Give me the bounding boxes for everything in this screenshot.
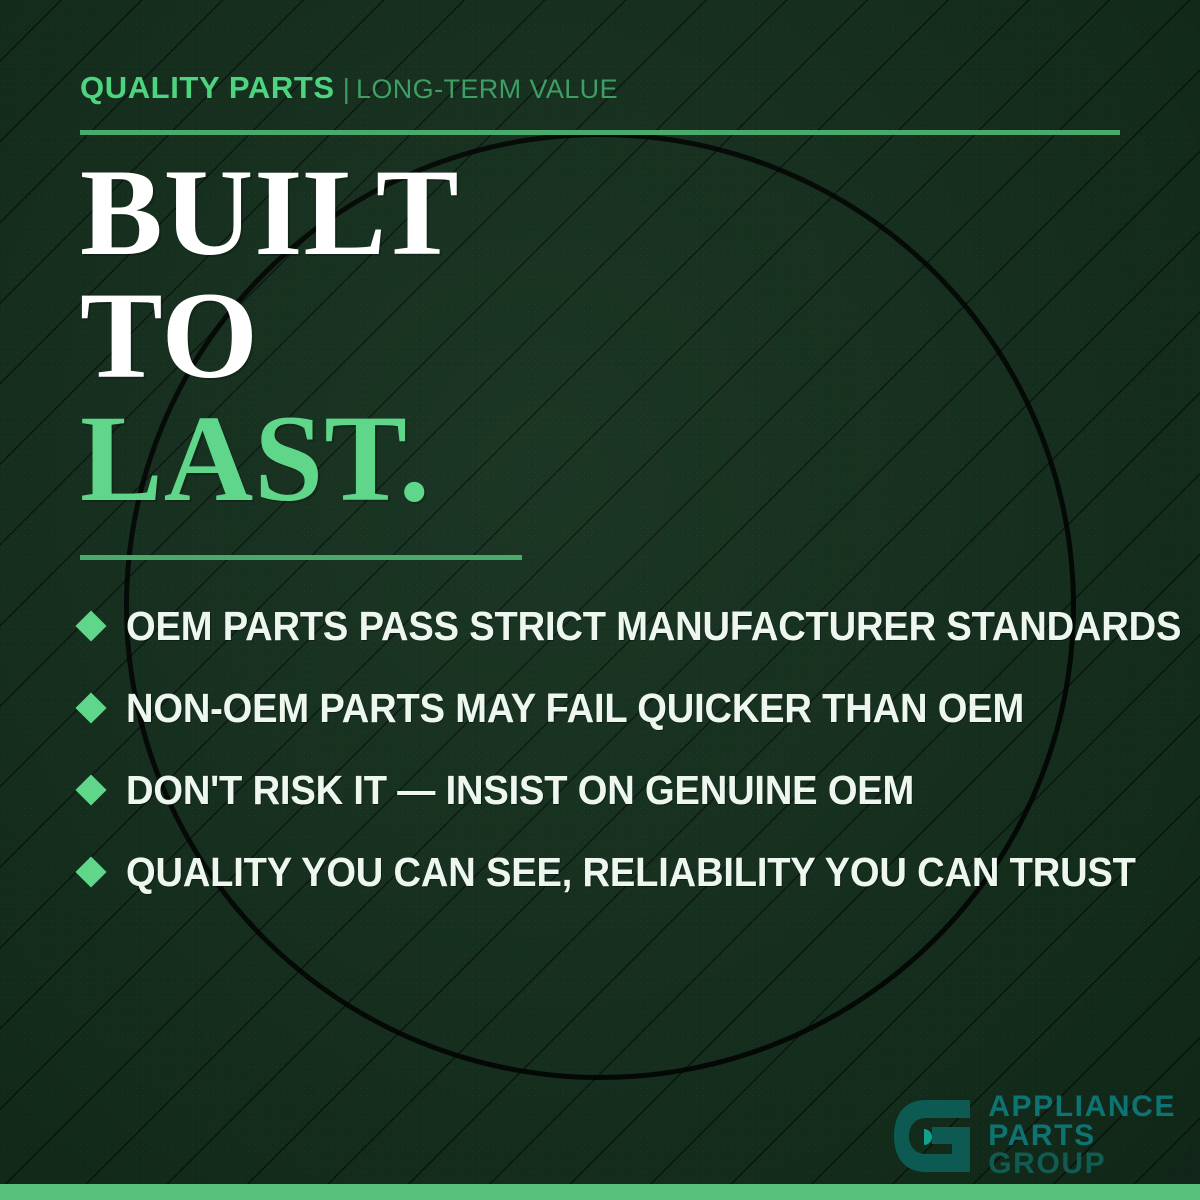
- list-item: OEM PARTS PASS STRICT MANUFACTURER STAND…: [80, 585, 1150, 667]
- eyebrow-subtitle-label: LONG-TERM VALUE: [356, 74, 618, 104]
- list-item-label: NON-OEM PARTS MAY FAIL QUICKER THAN OEM: [126, 685, 1024, 732]
- diamond-bullet-icon: [75, 774, 106, 805]
- brand-word-appliance: APPLIANCE: [988, 1093, 1176, 1121]
- brand-word-parts: PARTS: [988, 1122, 1176, 1150]
- brand-wordmark: APPLIANCE PARTS GROUP: [988, 1093, 1176, 1178]
- eyebrow-separator: |: [343, 73, 350, 104]
- headline-divider-rule: [80, 555, 522, 560]
- header-divider-rule: [80, 130, 1120, 135]
- brand-word-group: GROUP: [988, 1150, 1176, 1178]
- list-item: QUALITY YOU CAN SEE, RELIABILITY YOU CAN…: [80, 831, 1150, 913]
- diamond-bullet-icon: [75, 610, 106, 641]
- g-monogram-icon: [892, 1094, 976, 1178]
- diamond-bullet-icon: [75, 692, 106, 723]
- diamond-bullet-icon: [75, 856, 106, 887]
- eyebrow-main-label: QUALITY PARTS: [80, 70, 335, 105]
- list-item-label: DON'T RISK IT — INSIST ON GENUINE OEM: [126, 767, 914, 814]
- list-item-label: OEM PARTS PASS STRICT MANUFACTURER STAND…: [126, 603, 1181, 650]
- page-title: BUILT TO LAST.: [80, 152, 460, 520]
- list-item: DON'T RISK IT — INSIST ON GENUINE OEM: [80, 749, 1150, 831]
- list-item: NON-OEM PARTS MAY FAIL QUICKER THAN OEM: [80, 667, 1150, 749]
- headline-line-3: LAST.: [80, 398, 460, 521]
- headline-line-2: TO: [80, 275, 460, 398]
- list-item-label: QUALITY YOU CAN SEE, RELIABILITY YOU CAN…: [126, 849, 1136, 896]
- benefits-list: OEM PARTS PASS STRICT MANUFACTURER STAND…: [80, 585, 1150, 913]
- brand-logo: APPLIANCE PARTS GROUP: [892, 1093, 1176, 1178]
- poster-canvas: QUALITY PARTS|LONG-TERM VALUE BUILT TO L…: [0, 0, 1200, 1200]
- headline-line-1: BUILT: [80, 152, 460, 275]
- eyebrow-header: QUALITY PARTS|LONG-TERM VALUE: [80, 72, 618, 103]
- bottom-accent-bar: [0, 1184, 1200, 1200]
- poster-content: QUALITY PARTS|LONG-TERM VALUE BUILT TO L…: [0, 0, 1200, 1200]
